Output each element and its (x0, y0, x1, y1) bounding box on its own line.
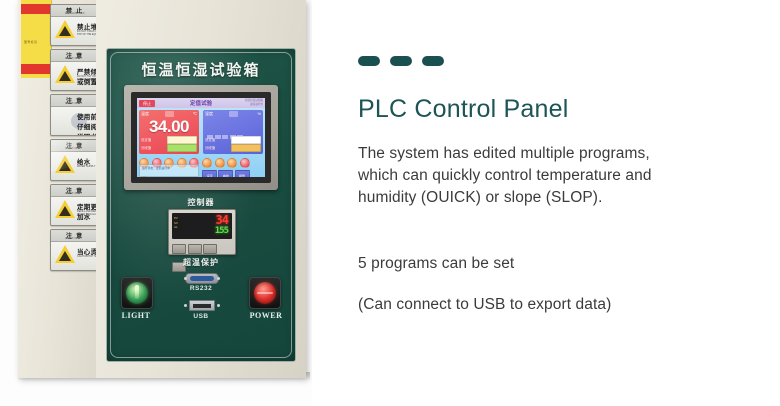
controller-display: PVSVAL 34 155 (172, 213, 232, 239)
light-button-label: LIGHT (108, 311, 164, 320)
usb-port[interactable] (189, 300, 215, 311)
warning-header-en: CAUTION (65, 102, 79, 105)
decorative-dashes (358, 53, 454, 71)
controller-keypad[interactable] (172, 241, 232, 250)
controller-display-legend: PVSVAL (174, 216, 178, 230)
hmi-hum-digit (222, 135, 228, 139)
hmi-temp-unit: ℃ (193, 111, 198, 116)
warning-triangle-large-icon (55, 245, 75, 263)
hmi-footer-button[interactable]: 曲线 (218, 170, 233, 177)
hmi-bezel: 停止 定值试验 恒温恒湿试验箱 试验进行中 温度 (124, 85, 278, 190)
light-button[interactable] (121, 277, 153, 309)
sticker-tiny-text: 型号标识 (24, 40, 37, 44)
controller-process-value: 34 (216, 213, 228, 227)
rs232-screw (217, 277, 220, 280)
control-door-frame: 恒温恒湿试验箱 停止 定值试验 恒温恒湿试验箱 (96, 0, 306, 378)
hmi-temp-seg-label: 分段值 (141, 145, 151, 150)
hmi-humidity-pane[interactable]: 湿度 % 设定值 分段值 (203, 110, 263, 154)
warning-header-cn: 注 意 (66, 141, 83, 150)
warning-triangle-large-icon (55, 200, 75, 218)
digital-temperature-controller[interactable]: PVSVAL 34 155 (168, 209, 236, 255)
warning-header-en: CAUTION (65, 147, 79, 150)
cabinet-left-column: 型号标识 禁 止 PROHIBITED 禁止堆放 DO NOT STACK IT… (18, 0, 97, 378)
warning-triangle-large-icon (55, 65, 75, 83)
humidity-icon (229, 111, 238, 117)
hmi-hum-seg-field[interactable] (231, 144, 261, 152)
control-panel: 恒温恒湿试验箱 停止 定值试验 恒温恒湿试验箱 (106, 48, 296, 362)
usb-screw (184, 304, 187, 307)
sticker-band-top (21, 4, 51, 14)
slide-root: 型号标识 禁 止 PROHIBITED 禁止堆放 DO NOT STACK IT… (0, 0, 780, 406)
hmi-temp-seg-field[interactable] (167, 144, 197, 152)
dash-icon (358, 56, 380, 66)
warning-header-en: CAUTION (65, 237, 79, 240)
hmi-temp-set-label: 设定值 (141, 137, 151, 142)
hmi-hum-digit (215, 135, 221, 139)
warning-header-en: CAUTION (65, 57, 79, 60)
hmi-inner-frame: 停止 定值试验 恒温恒湿试验箱 试验进行中 温度 (131, 92, 271, 183)
controller-set-value: 155 (215, 226, 228, 236)
hmi-indicator-row[interactable] (139, 155, 263, 163)
rs232-screw (184, 277, 187, 280)
hmi-hum-set-label: 设定值 (205, 137, 215, 142)
power-button[interactable] (249, 277, 281, 309)
description-paragraph-3: (Can connect to USB to export data) (358, 294, 611, 316)
light-indicator-icon (126, 282, 148, 304)
hmi-temperature-pane[interactable]: 温度 ℃ 34.00 设定值 分段值 (139, 110, 199, 154)
hmi-corner-info-line1: 恒温恒湿试验箱 (245, 99, 263, 103)
hmi-footer-buttons: 设定曲线报警返回 (201, 164, 263, 175)
rs232-port[interactable] (185, 273, 219, 284)
hmi-touchscreen[interactable]: 停止 定值试验 恒温恒湿试验箱 试验进行中 温度 (137, 98, 265, 177)
hmi-hum-label: 湿度 (205, 111, 213, 117)
controller-key-shift[interactable] (188, 244, 202, 254)
hmi-titlebar: 停止 定值试验 恒温恒湿试验箱 试验进行中 (137, 98, 265, 108)
overtemp-protection-label: 超温保护 (107, 257, 295, 268)
hmi-hum-value-placeholder (207, 126, 259, 132)
hmi-hum-seg-label: 分段值 (205, 145, 215, 150)
warning-triangle-large-icon (55, 155, 75, 173)
power-indicator-icon (254, 282, 276, 304)
hmi-status-text: 运行状态：定值运行中 (142, 166, 198, 170)
panel-title: 恒温恒湿试验箱 (107, 59, 295, 80)
power-button-label: POWER (238, 311, 294, 320)
controller-key-down[interactable] (203, 244, 217, 254)
controller-key-set[interactable] (172, 244, 186, 254)
hmi-hum-unit: % (257, 111, 261, 116)
hmi-footer-button[interactable]: 设定 (202, 170, 217, 177)
warning-header-en: PROHIBITED (65, 12, 85, 15)
sticker-band-bottom (21, 64, 51, 74)
dash-icon (390, 56, 412, 66)
hmi-footer-button[interactable]: 报警 (235, 170, 250, 177)
dash-icon (422, 56, 444, 66)
hmi-temp-value: 34.00 (139, 117, 199, 137)
description-paragraph-1: The system has edited multiple programs,… (358, 143, 688, 209)
description-paragraph-2: 5 programs can be set (358, 253, 514, 275)
hmi-temp-set-field[interactable] (167, 136, 197, 144)
controller-label: 控制器 (107, 197, 295, 208)
rs232-connector-body (190, 276, 214, 281)
usb-screw (217, 304, 220, 307)
warning-header-en: CAUTION (65, 192, 79, 195)
hmi-status-bar: 运行状态：定值运行中 (139, 164, 199, 177)
side-sticker: 型号标识 (21, 0, 52, 78)
hmi-corner-info: 恒温恒湿试验箱 试验进行中 (245, 99, 263, 107)
hmi-corner-info-line2: 试验进行中 (245, 103, 263, 107)
usb-slot (193, 304, 211, 308)
text-content: PLC Control Panel The system has edited … (352, 0, 772, 406)
product-photo: 型号标识 禁 止 PROHIBITED 禁止堆放 DO NOT STACK IT… (0, 0, 312, 406)
page-title: PLC Control Panel (358, 95, 568, 124)
warning-triangle-large-icon (55, 20, 75, 38)
hmi-hum-set-field[interactable] (231, 136, 261, 144)
